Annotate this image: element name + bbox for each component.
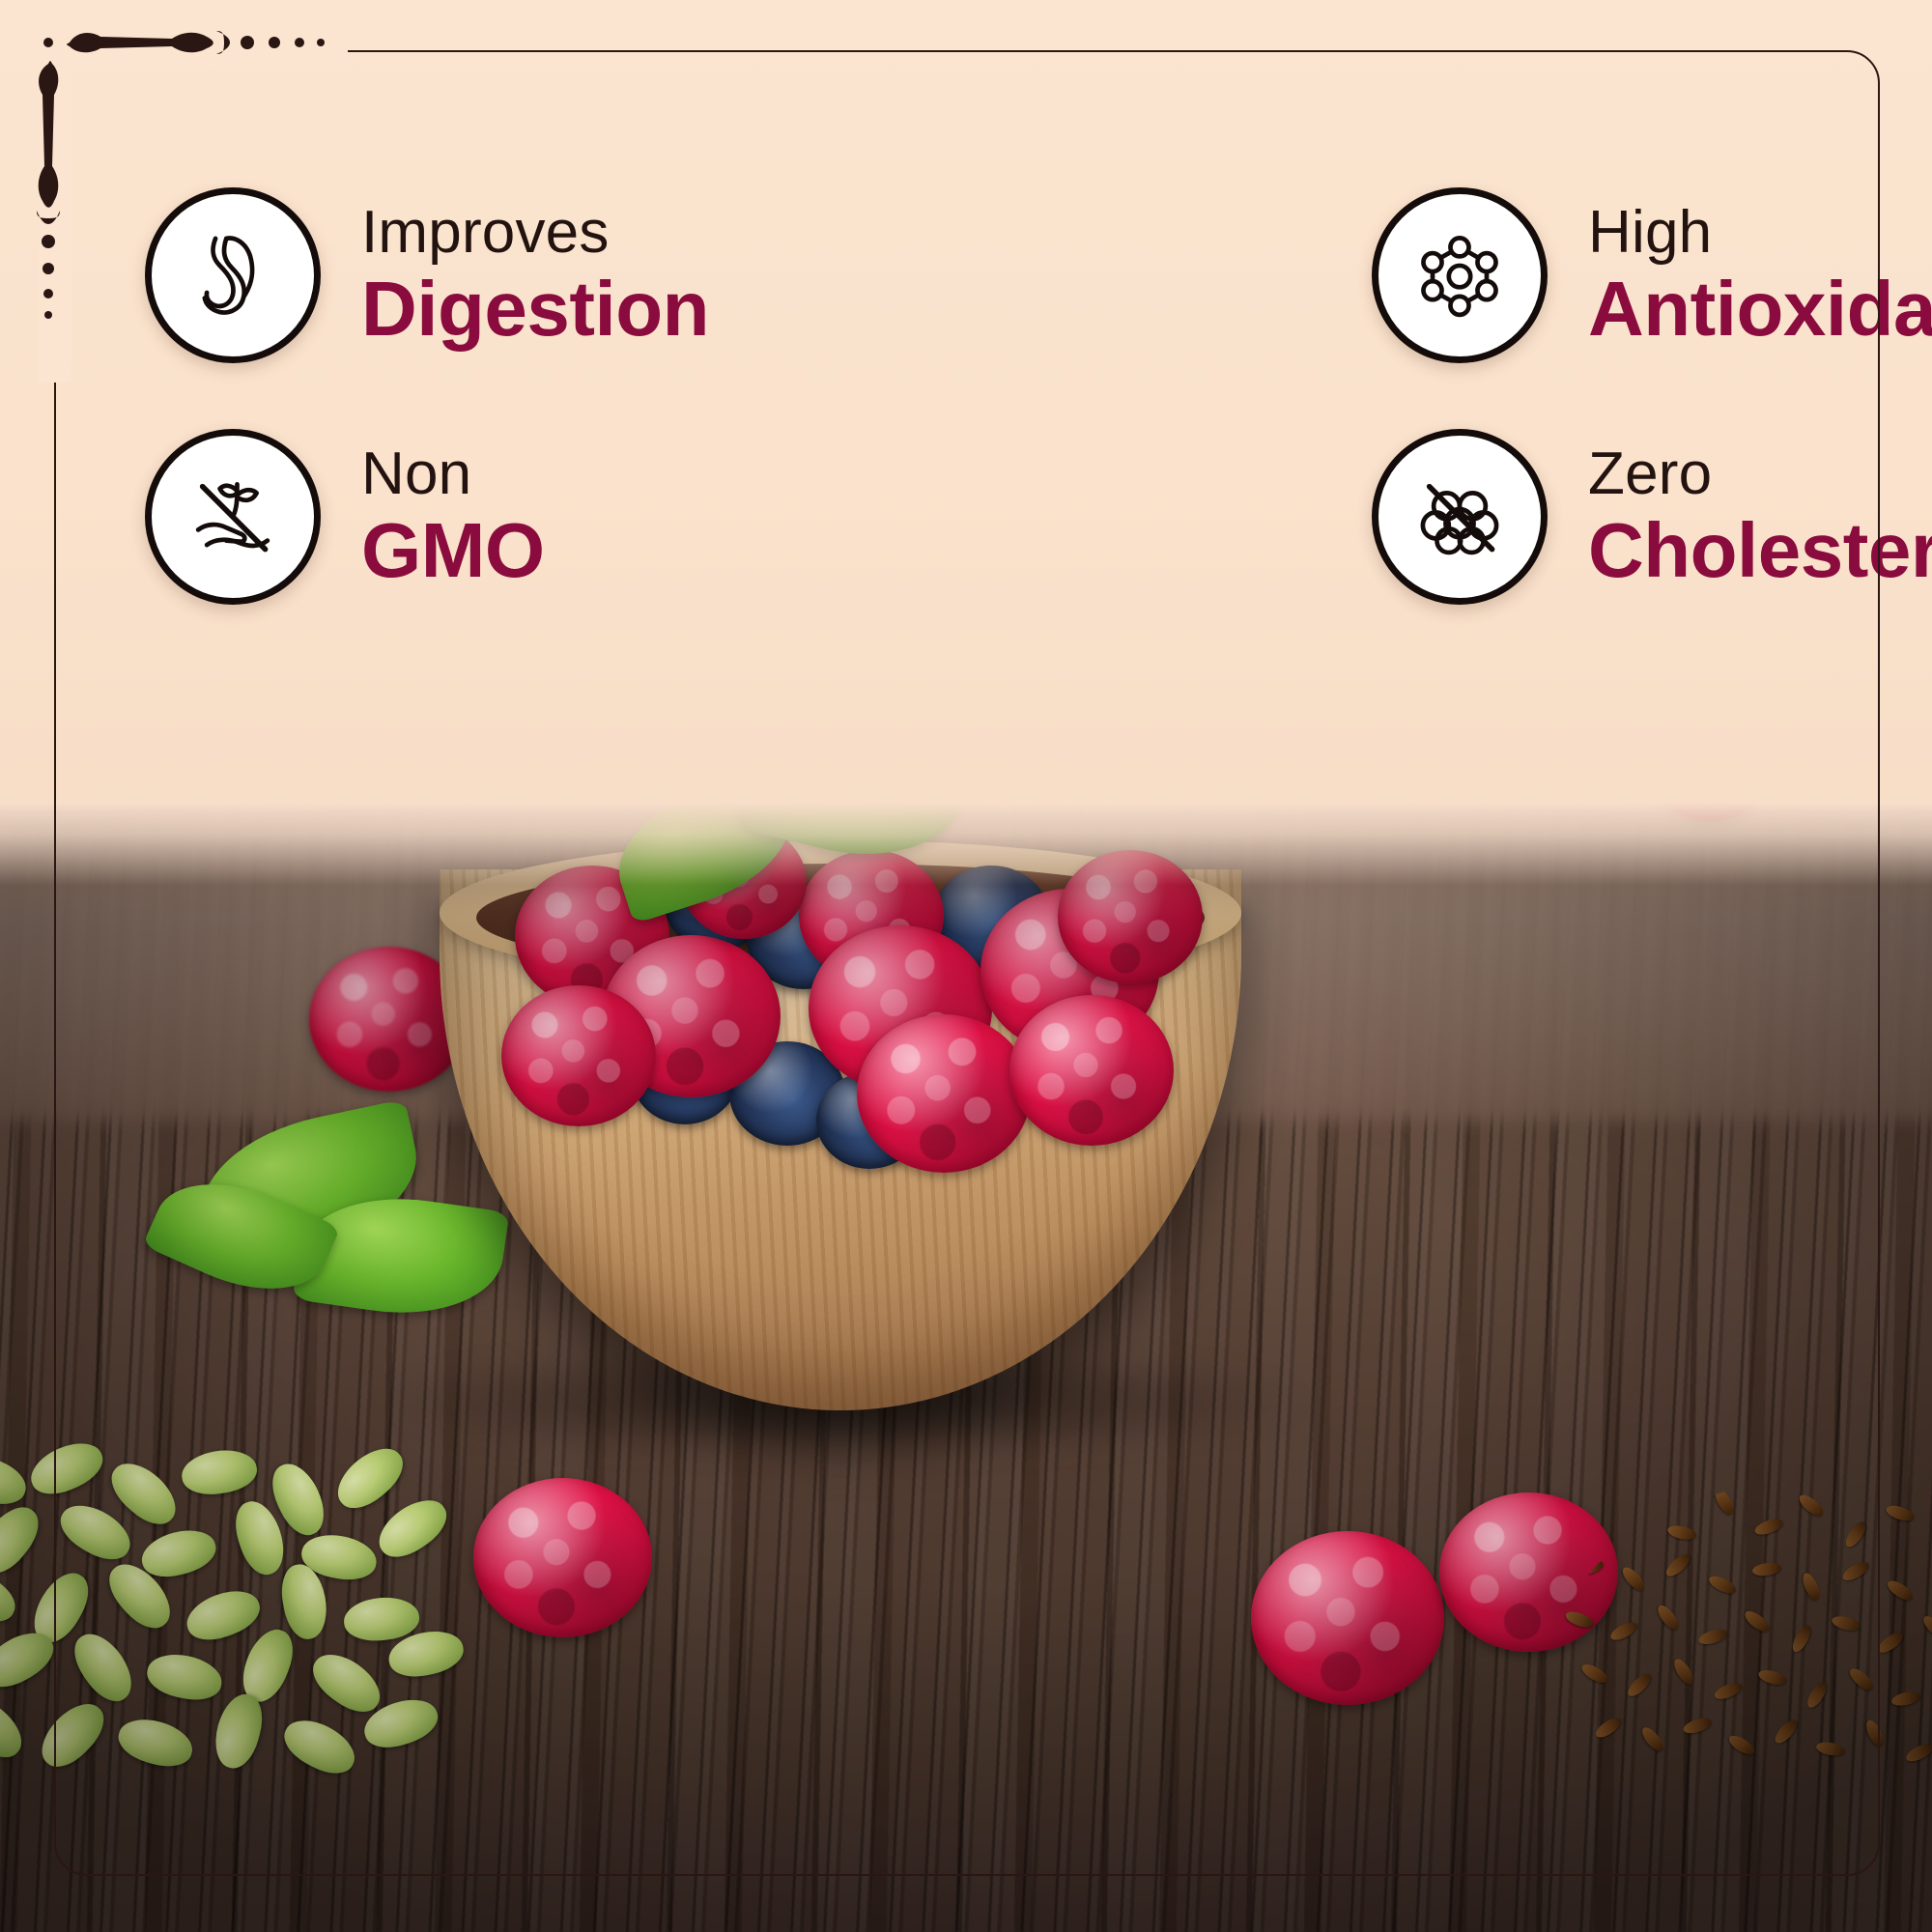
- benefit-line-bottom: Cholesterol: [1588, 512, 1932, 589]
- benefit-line-bottom: Antioxidants: [1588, 270, 1932, 348]
- benefit-text-non-gmo: Non GMO: [361, 444, 545, 589]
- molecule-antioxidant-icon: [1372, 187, 1548, 363]
- benefit-line-top: Zero: [1588, 444, 1932, 504]
- corner-flourish-ornament: [27, 21, 355, 374]
- benefit-line-top: High: [1588, 203, 1932, 263]
- benefit-text-antioxidants: High Antioxidants: [1588, 203, 1932, 348]
- benefit-line-bottom: Digestion: [361, 270, 709, 348]
- no-cholesterol-fat-cell-icon: [1372, 429, 1548, 605]
- benefit-line-bottom: GMO: [361, 512, 545, 589]
- benefit-item-cholesterol[interactable]: Zero Cholesterol: [908, 396, 1932, 638]
- no-gmo-sprout-hand-icon: [145, 429, 321, 605]
- benefit-text-digestion: Improves Digestion: [361, 203, 709, 348]
- poster-canvas: Improves Digestion High An: [0, 0, 1932, 1932]
- benefit-line-top: Improves: [361, 203, 709, 263]
- benefits-grid: Improves Digestion High An: [145, 155, 1845, 638]
- benefit-line-top: Non: [361, 444, 545, 504]
- benefit-item-non-gmo[interactable]: Non GMO: [145, 396, 908, 638]
- benefit-item-antioxidants[interactable]: High Antioxidants: [908, 155, 1932, 396]
- photo-vignette: [0, 802, 1932, 1932]
- berry-bowl-photo: [0, 802, 1932, 1932]
- photo-top-fade: [0, 802, 1932, 918]
- benefit-text-cholesterol: Zero Cholesterol: [1588, 444, 1932, 589]
